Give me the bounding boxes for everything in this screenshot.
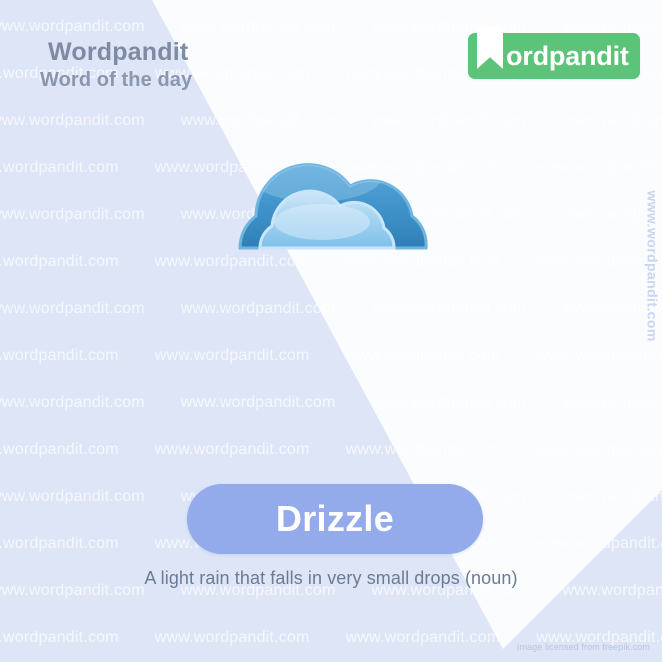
word-of-the-day-card: www.wordpandit.comwww.wordpandit.comwww.… [0, 0, 662, 662]
word-pill[interactable]: Drizzle [187, 484, 483, 554]
bookmark-icon [477, 27, 503, 69]
wordpandit-logo[interactable]: ordpandit [468, 33, 640, 79]
image-credit: Image licensed from freepik.com [517, 642, 650, 652]
word-term: Drizzle [276, 498, 394, 540]
rain-cloud-illustration [196, 140, 472, 440]
page-subtitle: Word of the day [40, 69, 192, 92]
logo-text: ordpandit [506, 33, 632, 79]
word-definition: A light rain that falls in very small dr… [0, 568, 662, 589]
page-title: Wordpandit [48, 38, 188, 67]
